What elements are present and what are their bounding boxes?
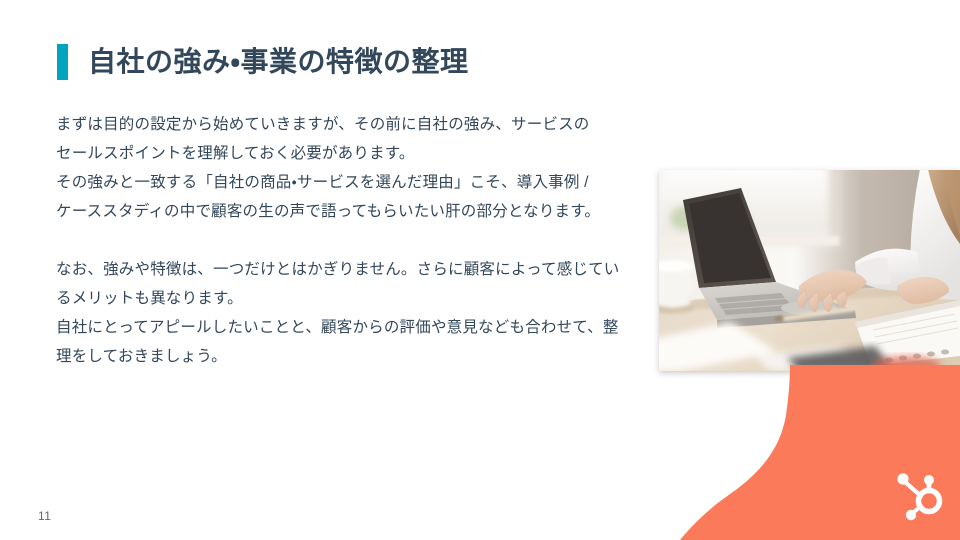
paragraph-2-line-4: 理をしておきましょう。 [56,342,616,371]
page-number: 11 [38,509,51,523]
paragraph-2: なお、強みや特徴は、一つだけとはかぎりません。さらに顧客によって感じてい るメリ… [56,255,616,371]
paragraph-2-line-2: るメリットも異なります。 [56,284,616,313]
paragraph-1-line-3: その強みと一致する「自社の商品・サービスを選んだ理由」こそ、導入事例 / [56,168,616,197]
slide-title: 自社の強み・事業の特徴の整理 [57,42,469,82]
slide-canvas: 自社の強み・事業の特徴の整理 まずは目的の設定から始めていきますが、その前に自社… [0,0,960,540]
paragraph-1-line-2: セールスポイントを理解しておく必要があります。 [56,139,616,168]
page-title: 自社の強み・事業の特徴の整理 [88,44,469,80]
hubspot-sprocket-logo [893,470,945,522]
paragraph-spacer [56,226,616,255]
laptop-typing-photo [659,170,960,371]
paragraph-2-line-1: なお、強みや特徴は、一つだけとはかぎりません。さらに顧客によって感じてい [56,255,616,284]
paragraph-1: まずは目的の設定から始めていきますが、その前に自社の強み、サービスの セールスポ… [56,110,616,226]
title-accent-bar [57,44,68,80]
paragraph-2-line-3: 自社にとってアピールしたいことと、顧客からの評価や意見なども合わせて、整 [56,313,616,342]
paragraph-1-line-4: ケーススタディの中で顧客の生の声で語ってもらいたい肝の部分となります。 [56,197,616,226]
body-copy: まずは目的の設定から始めていきますが、その前に自社の強み、サービスの セールスポ… [56,110,616,371]
paragraph-1-line-1: まずは目的の設定から始めていきますが、その前に自社の強み、サービスの [56,110,616,139]
